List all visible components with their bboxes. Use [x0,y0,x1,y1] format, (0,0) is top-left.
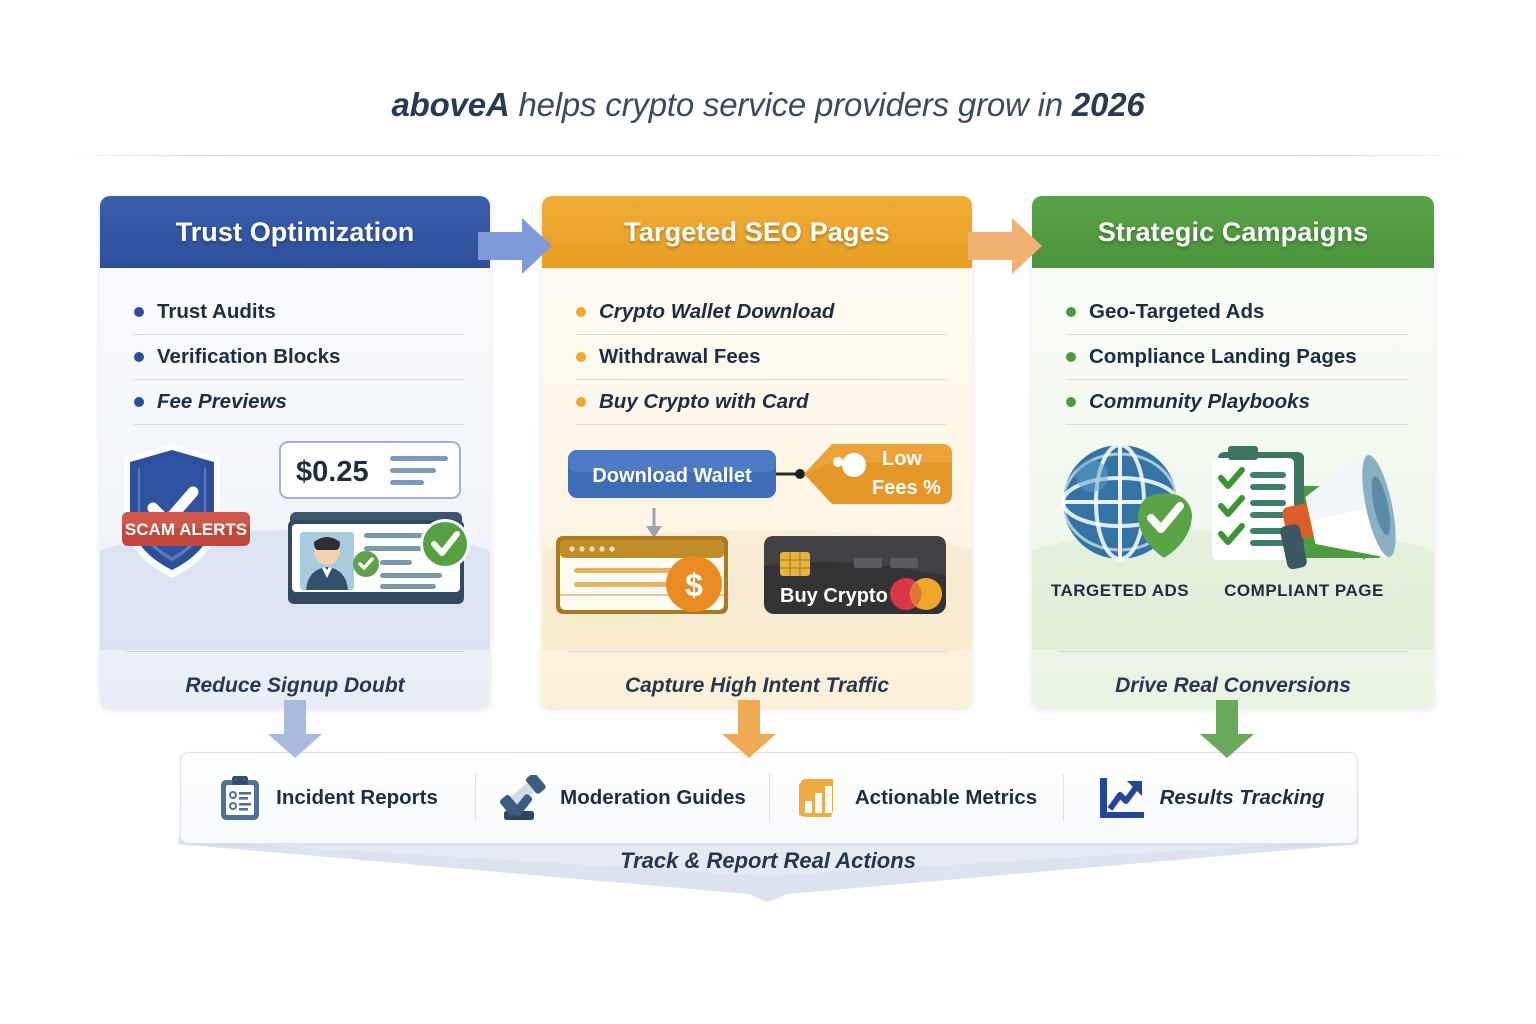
bullet-item: Crypto Wallet Download [576,290,946,334]
pillar-title-1: Trust Optimization [176,217,415,248]
pillar-title-2: Targeted SEO Pages [624,217,889,248]
pillar-columns: Trust Optimization Trust Audits Verifica… [100,196,1434,708]
title-middle: helps crypto service providers grow in [509,86,1071,123]
download-arrow-icon [646,508,662,538]
globe-check-icon [1063,445,1192,559]
shield-check-icon [124,444,220,578]
pillar-artwork-1: SCAM ALERTS $0.25 [100,436,490,616]
pillar-footer-2: Capture High Intent Traffic [542,674,972,698]
pillar-footer-1: Reduce Signup Doubt [100,674,490,698]
download-wallet-button: Download Wallet [568,450,776,498]
bullet-label: Crypto Wallet Download [599,300,834,324]
bullet-item: Withdrawal Fees [576,334,946,379]
bullet-item: Buy Crypto with Card [576,379,946,425]
ribbon-label: Track & Report Real Actions [178,848,1358,874]
bullet-item: Verification Blocks [134,334,464,379]
pillar-header-3: Strategic Campaigns [1032,196,1434,268]
deliverable-label: Moderation Guides [560,786,746,810]
pillar-bullets-1: Trust Audits Verification Blocks Fee Pre… [100,268,490,425]
bullet-dot-icon [1066,307,1076,317]
pillar-title-3: Strategic Campaigns [1098,217,1368,248]
scam-alerts-badge: SCAM ALERTS [122,512,250,546]
pillar-artwork-3: TARGETED ADS [1032,436,1434,616]
page-title: aboveA helps crypto service providers gr… [0,86,1536,124]
title-divider [58,155,1478,156]
deliverable-label: Results Tracking [1160,786,1325,810]
bullet-dot-icon [134,352,144,362]
bottom-deliverables-bar: Incident Reports Moderation Guides [180,752,1358,844]
price-preview-box: $0.25 [280,442,460,498]
bullet-dot-icon [134,397,144,407]
pillar-header-1: Trust Optimization [100,196,490,268]
pillar-header-2: Targeted SEO Pages [542,196,972,268]
deliverable-incident-reports[interactable]: Incident Reports [181,770,475,826]
bullet-label: Geo-Targeted Ads [1089,300,1264,324]
bullet-item: Trust Audits [134,290,464,334]
footer-divider [568,651,946,652]
compliance-caption: COMPLIANT PAGE [1224,581,1384,600]
price-value: $0.25 [296,456,369,488]
bullet-dot-icon [134,307,144,317]
pillar-card-trust-optimization[interactable]: Trust Optimization Trust Audits Verifica… [100,196,490,708]
gavel-icon [498,775,546,821]
bullet-item: Geo-Targeted Ads [1066,290,1408,334]
deliverable-results-tracking[interactable]: Results Tracking [1063,770,1357,826]
deliverable-actionable-metrics[interactable]: Actionable Metrics [769,770,1063,826]
bullet-label: Fee Previews [157,390,287,414]
checklist-megaphone-icon [1212,446,1402,578]
bullet-dot-icon [576,397,586,407]
download-wallet-label: Download Wallet [592,465,752,487]
bullet-label: Buy Crypto with Card [599,390,809,414]
clipboard-icon [218,775,262,821]
bullet-label: Verification Blocks [157,345,340,369]
footer-divider [126,651,464,652]
low-fees-tag: Low Fees % [804,444,952,504]
bullet-label: Withdrawal Fees [599,345,761,369]
deliverable-moderation-guides[interactable]: Moderation Guides [475,770,769,826]
pillar-footer-3: Drive Real Conversions [1032,674,1434,698]
tag-line-1: Low [882,448,922,470]
deliverable-label: Incident Reports [276,786,438,810]
bullet-item: Compliance Landing Pages [1066,334,1408,379]
bullet-dot-icon [576,307,586,317]
pillar-artwork-2: Download Wallet Low Fees % [542,436,972,616]
brand-name: aboveA [391,86,509,123]
connector-arrow-1 [478,218,552,274]
bullet-label: Compliance Landing Pages [1089,345,1357,369]
down-arrow-3-icon [1200,700,1254,758]
connector-arrow-2 [968,218,1042,274]
deliverable-label: Actionable Metrics [855,786,1037,810]
footer-divider [1058,651,1408,652]
pillar-bullets-2: Crypto Wallet Download Withdrawal Fees B… [542,268,972,425]
bullet-dot-icon [1066,352,1076,362]
globe-caption: TARGETED ADS [1051,581,1189,600]
infographic-canvas: aboveA helps crypto service providers gr… [0,0,1536,1024]
trend-up-icon [1096,775,1146,821]
svg-text:$: $ [685,567,703,603]
scam-alerts-label: SCAM ALERTS [125,520,247,539]
pillar-card-targeted-seo-pages[interactable]: Targeted SEO Pages Crypto Wallet Downloa… [542,196,972,708]
id-card-verified-icon [288,512,470,604]
bar-chart-icon [795,775,841,821]
buy-crypto-label: Buy Crypto [780,585,888,607]
wallet-page-dollar-icon: $ [556,536,728,614]
tag-connector [776,469,805,479]
tag-line-2: Fees % [872,477,941,499]
bullet-label: Community Playbooks [1089,390,1310,414]
title-year: 2026 [1072,86,1145,123]
down-arrow-1-icon [268,700,322,758]
bullet-dot-icon [1066,397,1076,407]
bullet-label: Trust Audits [157,300,276,324]
bullet-dot-icon [576,352,586,362]
down-arrow-2-icon [722,700,776,758]
bullet-item: Community Playbooks [1066,379,1408,425]
pillar-card-strategic-campaigns[interactable]: Strategic Campaigns Geo-Targeted Ads Com… [1032,196,1434,708]
pillar-bullets-3: Geo-Targeted Ads Compliance Landing Page… [1032,268,1434,425]
bullet-item: Fee Previews [134,379,464,425]
credit-card-icon: Buy Crypto [764,536,946,614]
